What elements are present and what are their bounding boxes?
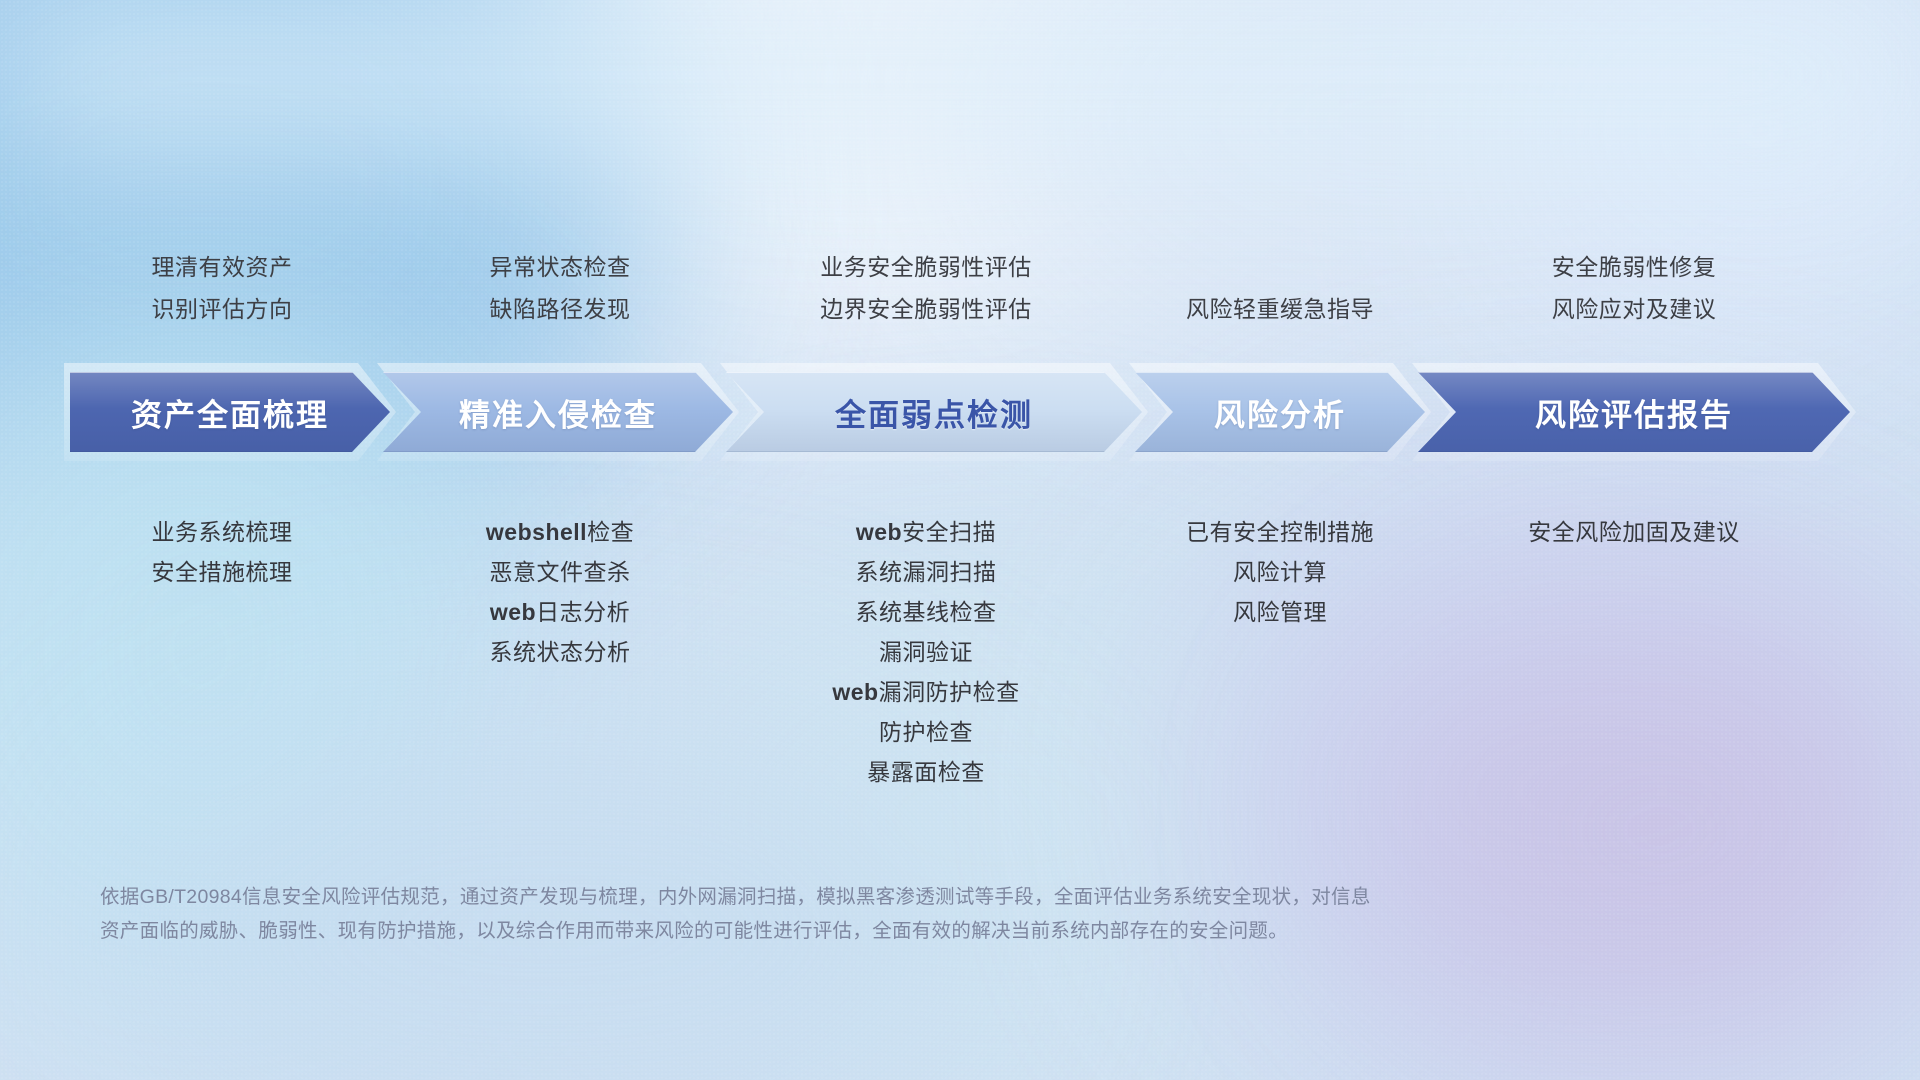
- process-diagram: 理清有效资产识别评估方向 异常状态检查缺陷路径发现 业务安全脆弱性评估边界安全脆…: [0, 0, 1920, 1080]
- stage-bottom-item-cjk: 风险计算: [1233, 559, 1327, 585]
- stage-bottom-item-cjk: 防护检查: [879, 719, 973, 745]
- stage-bottom-item: 暴露面检查: [0, 752, 1886, 792]
- stage-arrow-label: 全面弱点检测: [835, 390, 1033, 435]
- stage-bottom-item: 风险计算: [320, 552, 1920, 592]
- stage-arrow-assessment-report[interactable]: 风险评估报告: [1418, 372, 1850, 452]
- stage-arrow-label: 资产全面梳理: [131, 390, 329, 435]
- footer-line-1: 依据GB/T20984信息安全风险评估规范，通过资产发现与梳理，内外网漏洞扫描，…: [100, 880, 1640, 914]
- stage-arrow-asset-inventory[interactable]: 资产全面梳理: [70, 372, 390, 452]
- stage-bottom-item: 漏洞验证: [0, 632, 1886, 672]
- stage-arrow-label: 风险评估报告: [1535, 390, 1733, 435]
- stage-bottom-item: 安全风险加固及建议: [674, 512, 1920, 552]
- stage-top-item: 风险应对及建议: [674, 288, 1920, 330]
- footer-line-2: 资产面临的威胁、脆弱性、现有防护措施，以及综合作用而带来风险的可能性进行评估，全…: [100, 914, 1640, 948]
- stage-arrow-label: 风险分析: [1214, 390, 1346, 435]
- stage-bottom-item-cjk: 风险管理: [1233, 599, 1327, 625]
- stage-top-items-assessment-report: 安全脆弱性修复风险应对及建议: [0, 246, 1920, 330]
- stage-bottom-item-cjk: 漏洞防护检查: [879, 679, 1020, 705]
- stage-bottom-item: 防护检查: [0, 712, 1886, 752]
- stage-arrow-weakness-detection[interactable]: 全面弱点检测: [726, 372, 1142, 452]
- stage-top-item: 安全脆弱性修复: [674, 246, 1920, 288]
- footer-description: 依据GB/T20984信息安全风险评估规范，通过资产发现与梳理，内外网漏洞扫描，…: [100, 880, 1640, 948]
- stage-arrow-risk-analysis[interactable]: 风险分析: [1135, 372, 1425, 452]
- stage-bottom-items-assessment-report: 安全风险加固及建议: [0, 512, 1920, 552]
- stage-bottom-item: 风险管理: [320, 592, 1920, 632]
- stage-bottom-item: web漏洞防护检查: [0, 672, 1886, 712]
- stage-arrow-intrusion-check[interactable]: 精准入侵检查: [383, 372, 733, 452]
- process-arrow-band: 资产全面梳理精准入侵检查全面弱点检测风险分析风险评估报告: [70, 372, 1850, 452]
- stage-bottom-item-cjk: 暴露面检查: [867, 759, 985, 785]
- stage-arrow-label: 精准入侵检查: [459, 390, 657, 435]
- stage-bottom-item-cjk: 漏洞验证: [879, 639, 973, 665]
- stage-bottom-item-latin: web: [832, 679, 878, 705]
- stage-bottom-item-cjk: 安全风险加固及建议: [1528, 519, 1740, 545]
